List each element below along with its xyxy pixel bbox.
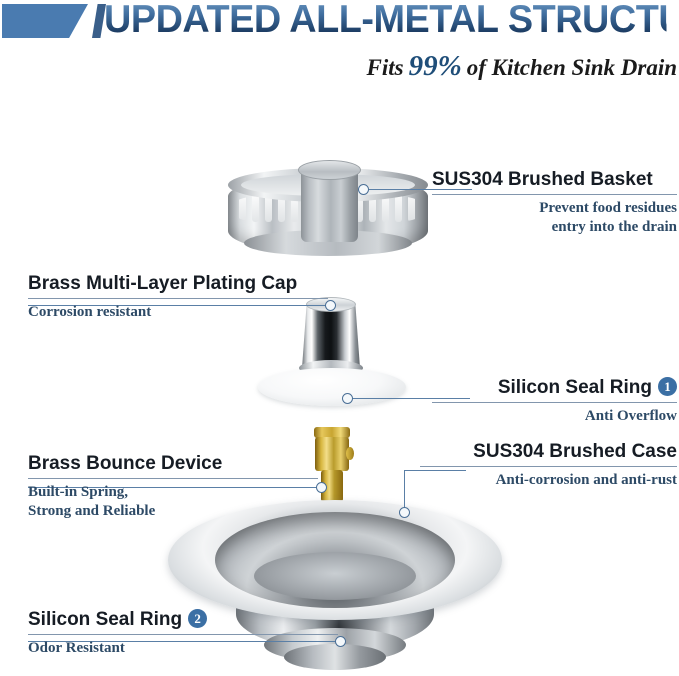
subtitle-percent: 99%: [404, 50, 467, 82]
header-subtitle: Fits99%of Kitchen Sink Drain: [367, 50, 678, 83]
callout-seal-ring-1-text: Silicon Seal Ring: [498, 377, 652, 398]
case-bowl-inner: [254, 552, 416, 600]
leader-dot-case: [399, 507, 410, 518]
callout-basket: SUS304 Brushed Basket Prevent food resid…: [432, 168, 677, 237]
callout-seal-ring-2: Silicon Seal Ring2 Odor Resistant: [28, 608, 338, 658]
brass-mid: [315, 437, 349, 471]
callout-case-rule: [420, 466, 677, 467]
brand-logo-icon: [2, 4, 88, 38]
callout-bounce-device-rule: [28, 478, 318, 479]
callout-case-desc-1: Anti-corrosion and anti-rust: [420, 471, 677, 490]
leader-line-case-vertical: [404, 470, 405, 512]
subtitle-after: of Kitchen Sink Drain: [467, 55, 677, 80]
sus304-brushed-basket-image: [228, 168, 428, 263]
callout-case-title: SUS304 Brushed Case: [420, 440, 677, 463]
callout-seal-ring-1-badge: 1: [658, 377, 677, 396]
subtitle-before: Fits: [367, 55, 404, 80]
seal-ring-disc: [258, 368, 406, 406]
leader-dot-basket: [358, 184, 369, 195]
callout-basket-desc-2: entry into the drain: [432, 218, 677, 237]
leader-dot-seal-ring-1: [342, 393, 353, 404]
callout-seal-ring-2-desc-1: Odor Resistant: [28, 639, 338, 658]
callout-seal-ring-1-rule: [432, 402, 677, 403]
basket-knob-top: [298, 160, 361, 180]
callout-plating-cap: Brass Multi-Layer Plating Cap Corrosion …: [28, 272, 328, 322]
callout-bounce-device-desc-2: Strong and Reliable: [28, 502, 318, 521]
callout-bounce-device-desc-1: Built-in Spring,: [28, 483, 318, 502]
callout-bounce-device-title: Brass Bounce Device: [28, 452, 318, 475]
brass-lug: [346, 447, 354, 460]
page-title: UPDATED ALL-METAL STRUCTURE: [104, 0, 667, 42]
product-diagram: UPDATED ALL-METAL STRUCTURE Fits99%of Ki…: [0, 0, 679, 676]
callout-plating-cap-title: Brass Multi-Layer Plating Cap: [28, 272, 328, 295]
callout-basket-title: SUS304 Brushed Basket: [432, 168, 677, 191]
callout-seal-ring-2-text: Silicon Seal Ring: [28, 609, 182, 630]
callout-seal-ring-2-badge: 2: [188, 609, 207, 628]
callout-seal-ring-2-rule: [28, 634, 338, 635]
callout-basket-desc-1: Prevent food residues: [432, 199, 677, 218]
callout-seal-ring-1: Silicon Seal Ring1 Anti Overflow: [432, 376, 677, 426]
callout-plating-cap-rule: [28, 298, 328, 299]
callout-plating-cap-desc-1: Corrosion resistant: [28, 303, 328, 322]
callout-seal-ring-1-desc-1: Anti Overflow: [432, 407, 677, 426]
callout-bounce-device: Brass Bounce Device Built-in Spring, Str…: [28, 452, 318, 521]
callout-case: SUS304 Brushed Case Anti-corrosion and a…: [420, 440, 677, 490]
callout-basket-rule: [432, 194, 677, 195]
silicon-seal-ring-1-image: [258, 368, 406, 406]
callout-seal-ring-2-title: Silicon Seal Ring2: [28, 608, 338, 631]
callout-seal-ring-1-title: Silicon Seal Ring1: [432, 376, 677, 399]
